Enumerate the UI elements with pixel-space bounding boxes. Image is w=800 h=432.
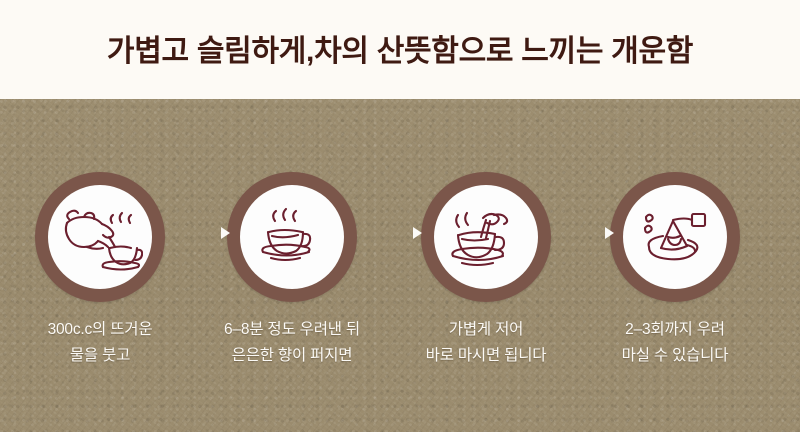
step-caption-3: 가볍게 저어 바로 마시면 됩니다 [388,317,584,369]
step-icon-circle-1 [35,172,165,302]
step-arrow-3-to-4-icon [605,227,614,239]
step-caption-3-line2: 바로 마시면 됩니다 [388,343,584,369]
step-caption-2-line2: 은은한 향이 퍼지면 [194,343,390,369]
header-band: 가볍고 슬림하게,차의 산뜻함으로 느끼는 개운함 [0,0,800,99]
pyramid-teabag-in-water-icon [623,185,727,289]
page-title: 가볍고 슬림하게,차의 산뜻함으로 느끼는 개운함 [107,37,693,67]
step-item-3: 가볍게 저어 바로 마시면 됩니다 [388,99,584,432]
step-caption-3-line1: 가볍게 저어 [388,317,584,343]
teapot-pouring-into-cup-icon [48,185,152,289]
step-caption-2: 6–8분 정도 우려낸 뒤 은은한 향이 퍼지면 [194,317,390,369]
steaming-teacup-icon [240,185,344,289]
step-caption-4-line1: 2–3회까지 우려 [577,317,773,343]
step-arrow-1-to-2-icon [221,227,230,239]
brewing-guide-banner: 가볍고 슬림하게,차의 산뜻함으로 느끼는 개운함 [0,0,800,432]
step-caption-1-line1: 300c.c의 뜨거운 [2,317,198,343]
step-arrow-2-to-3-icon [413,227,422,239]
brewing-steps: 300c.c의 뜨거운 물을 붓고 [0,99,800,432]
step-caption-4-line2: 마실 수 있습니다 [577,343,773,369]
step-caption-1: 300c.c의 뜨거운 물을 붓고 [2,317,198,369]
step-icon-circle-4 [610,172,740,302]
step-caption-2-line1: 6–8분 정도 우려낸 뒤 [194,317,390,343]
step-item-2: 6–8분 정도 우려낸 뒤 은은한 향이 퍼지면 [194,99,390,432]
step-icon-circle-2 [227,172,357,302]
step-item-4: 2–3회까지 우려 마실 수 있습니다 [577,99,773,432]
step-caption-1-line2: 물을 붓고 [2,343,198,369]
step-caption-4: 2–3회까지 우려 마실 수 있습니다 [577,317,773,369]
teacup-with-spoon-icon [434,185,538,289]
step-item-1: 300c.c의 뜨거운 물을 붓고 [2,99,198,432]
step-icon-circle-3 [421,172,551,302]
